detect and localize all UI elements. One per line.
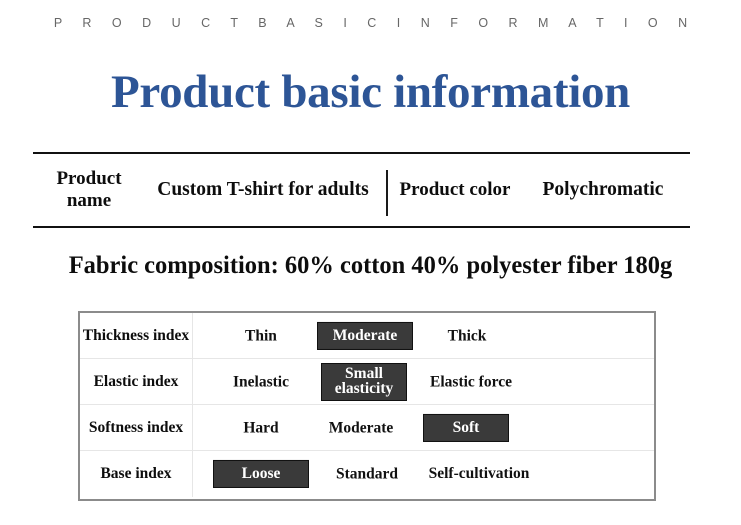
- option-self-cultivation[interactable]: Self-cultivation: [425, 466, 533, 482]
- row-options-thickness-index: Thin Moderate Thick: [193, 313, 654, 358]
- row-options-base-index: Loose Standard Self-cultivation: [193, 451, 654, 497]
- info-vertical-divider: [386, 170, 388, 216]
- fabric-composition-text: Fabric composition: 60% cotton 40% polye…: [15, 250, 726, 280]
- product-color-value: Polychromatic: [519, 154, 687, 226]
- product-name-label: Product name: [37, 154, 141, 226]
- table-row: Elastic index Inelastic Small elasticity…: [80, 359, 654, 405]
- option-thin[interactable]: Thin: [219, 327, 303, 344]
- option-thick[interactable]: Thick: [425, 327, 509, 344]
- row-label-elastic-index: Elastic index: [80, 359, 193, 404]
- page-title: Product basic information: [0, 68, 741, 117]
- product-color-label: Product color: [395, 154, 515, 226]
- option-elastic-force[interactable]: Elastic force: [411, 373, 531, 390]
- table-row: Softness index Hard Moderate Soft: [80, 405, 654, 451]
- product-index-table: Thickness index Thin Moderate Thick Elas…: [78, 311, 656, 501]
- row-options-elastic-index: Inelastic Small elasticity Elastic force: [193, 359, 654, 404]
- table-row: Thickness index Thin Moderate Thick: [80, 313, 654, 359]
- option-hard[interactable]: Hard: [221, 419, 301, 436]
- page-kicker: P R O D U C T B A S I C I N F O R M A T …: [0, 16, 741, 30]
- option-moderate-selected[interactable]: Moderate: [317, 321, 413, 349]
- option-standard[interactable]: Standard: [315, 465, 419, 482]
- table-row: Base index Loose Standard Self-cultivati…: [80, 451, 654, 497]
- row-label-softness-index: Softness index: [80, 405, 193, 450]
- row-label-base-index: Base index: [80, 451, 193, 497]
- option-loose-selected[interactable]: Loose: [213, 460, 309, 488]
- product-name-value: Custom T-shirt for adults: [143, 154, 383, 226]
- row-options-softness-index: Hard Moderate Soft: [193, 405, 654, 450]
- product-basic-info-band: Product name Custom T-shirt for adults P…: [33, 152, 690, 228]
- row-label-thickness-index: Thickness index: [80, 313, 193, 358]
- option-small-elasticity-selected[interactable]: Small elasticity: [321, 363, 407, 401]
- option-soft-selected[interactable]: Soft: [423, 413, 509, 441]
- option-moderate[interactable]: Moderate: [305, 419, 417, 436]
- option-inelastic[interactable]: Inelastic: [205, 373, 317, 390]
